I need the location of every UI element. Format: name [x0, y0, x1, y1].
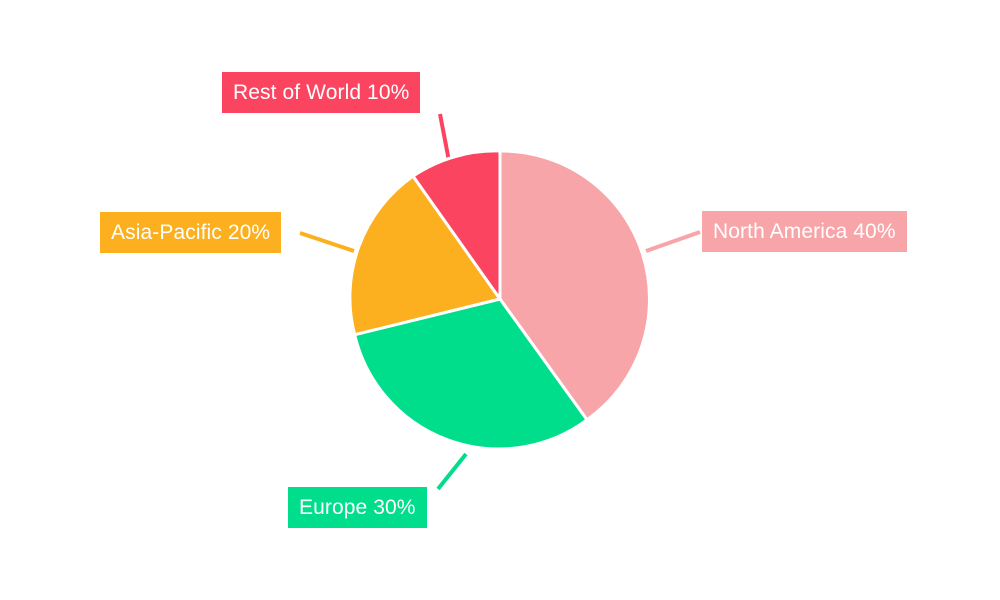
slice-label-rest-of-world: Rest of World 10% — [222, 72, 420, 113]
slice-label-asia-pacific: Asia-Pacific 20% — [100, 212, 281, 253]
slice-label-north-america: North America 40% — [702, 211, 907, 252]
leader-line-europe — [438, 454, 466, 489]
slice-label-europe: Europe 30% — [288, 487, 427, 528]
pie-chart: North America 40% Europe 30% Asia-Pacifi… — [0, 0, 1000, 600]
leader-line-north-america — [646, 232, 700, 251]
pie-chart-canvas — [0, 0, 1000, 600]
leader-line-asia-pacific — [300, 233, 354, 251]
pie-slices — [350, 151, 650, 449]
leader-line-rest-of-world — [440, 114, 449, 161]
